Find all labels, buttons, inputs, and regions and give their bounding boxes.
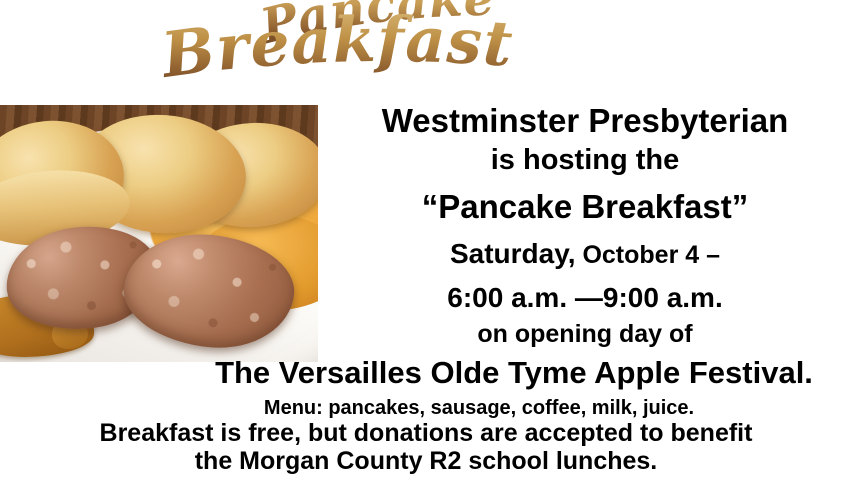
pancake-breakfast-flyer: Pancake Breakfast Westminster Presbyteri… [0, 0, 852, 477]
donation-line-2: the Morgan County R2 school lunches. [0, 449, 852, 474]
date-line: Saturday, October 4 – [318, 240, 852, 268]
organization-line: Westminster Presbyterian [318, 104, 852, 137]
title-line-breakfast: Breakfast [156, 3, 516, 92]
festival-line: The Versailles Olde Tyme Apple Festival. [176, 357, 852, 388]
menu-line: Menu: pancakes, sausage, coffee, milk, j… [0, 398, 852, 418]
time-line: 6:00 a.m. —9:00 a.m. [318, 284, 852, 312]
title-wordart: Pancake Breakfast [0, 0, 852, 100]
title-line-pancake: Pancake [254, 0, 496, 56]
breakfast-photo [0, 105, 318, 362]
date-day: Saturday, [450, 238, 576, 269]
hosting-line: is hosting the [318, 146, 852, 175]
donation-line-1: Breakfast is free, but donations are acc… [0, 421, 852, 446]
date-rest: October 4 – [576, 241, 721, 269]
event-name-line: “Pancake Breakfast” [318, 190, 852, 223]
opening-day-line: on opening day of [318, 322, 852, 347]
photo-vignette [0, 105, 318, 362]
